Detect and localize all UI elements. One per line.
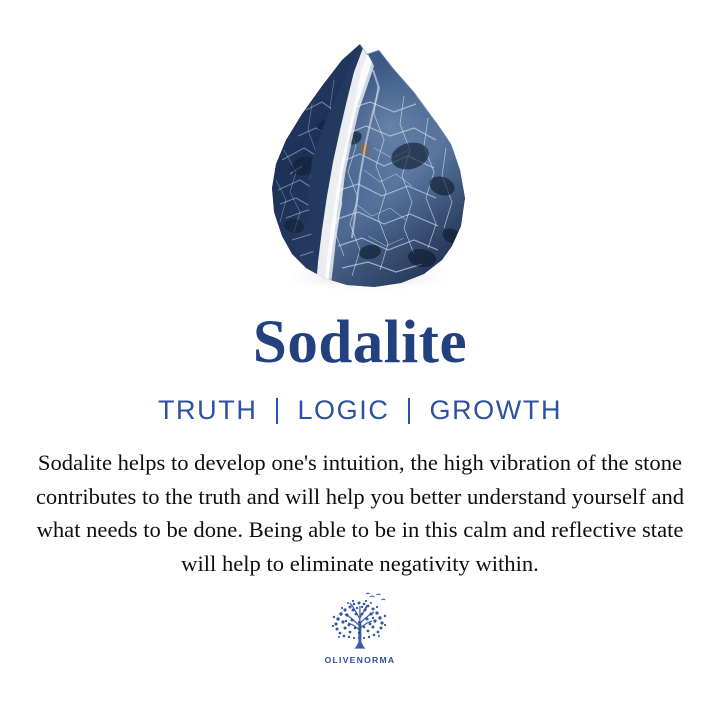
description-text: Sodalite helps to develop one's intuitio… xyxy=(22,446,698,580)
brand-logo: OLIVENORMA xyxy=(323,592,397,665)
hero-image-area xyxy=(0,0,720,292)
olive-tree-icon xyxy=(323,592,397,654)
keyword-growth: GROWTH xyxy=(429,397,562,424)
keyword-list: TRUTH LOGIC GROWTH xyxy=(158,397,562,424)
keyword-separator-1 xyxy=(276,398,278,424)
product-info-card: Sodalite TRUTH LOGIC GROWTH Sodalite hel… xyxy=(0,0,720,720)
brand-wordmark: OLIVENORMA xyxy=(325,656,396,665)
page-title: Sodalite xyxy=(253,312,467,373)
keyword-logic: LOGIC xyxy=(297,397,389,424)
sodalite-crystal-image xyxy=(246,40,476,292)
keyword-separator-2 xyxy=(408,398,410,424)
keyword-truth: TRUTH xyxy=(158,397,257,424)
